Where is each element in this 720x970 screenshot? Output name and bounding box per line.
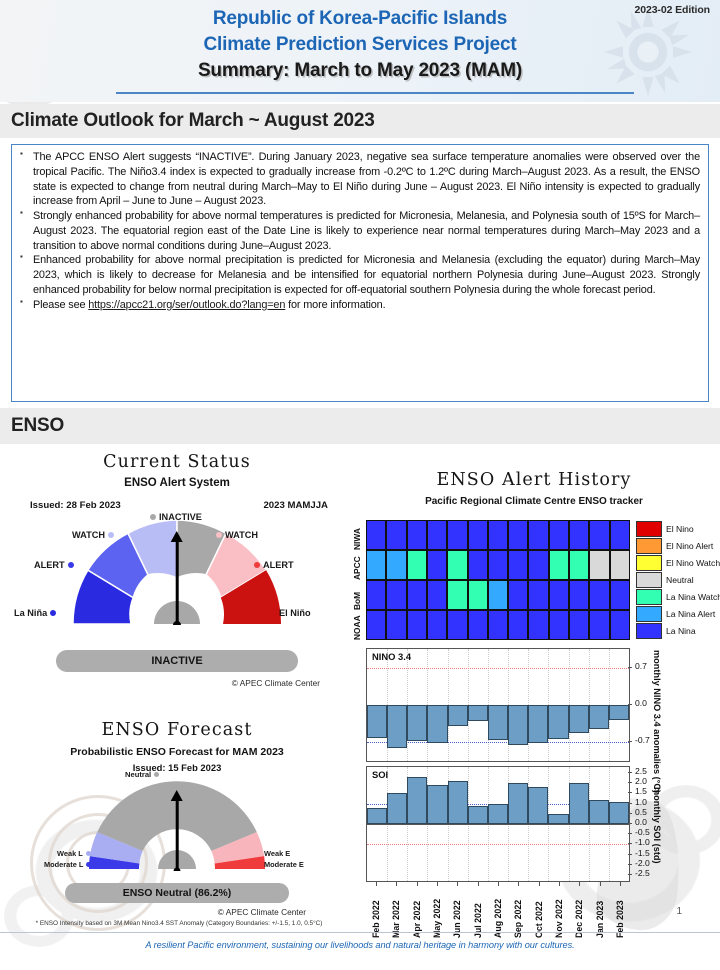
heatmap-cell (528, 610, 548, 640)
y-tick-label: 0.0 (635, 817, 647, 827)
legend-label: El Nino Alert (666, 541, 713, 551)
current-status-bar: INACTIVE (56, 650, 298, 672)
nino34-axis-title: monthly NINO 3.4 anomalies (°C) (652, 650, 662, 762)
alert-history-panel: ENSO Alert History Pacific Regional Clim… (352, 470, 716, 940)
outlook-bullet-list: The APCC ENSO Alert suggests “INACTIVE”.… (16, 150, 700, 312)
bar (548, 705, 568, 739)
enso-forecast-panel: ENSO Forecast Probabilistic ENSO Forecas… (12, 718, 342, 930)
current-status-subtitle: ENSO Alert System (12, 477, 342, 489)
legend-swatch (636, 538, 662, 554)
forecast-status-bar: ENSO Neutral (86.2%) (65, 883, 289, 903)
heatmap-cell (447, 520, 467, 550)
gauge-dot-la-nina (50, 610, 56, 616)
gauge-label-alert-right-text: ALERT (263, 560, 294, 570)
heatmap-cell (386, 610, 406, 640)
heatmap-cell (549, 580, 569, 610)
x-axis-month-label: Jun 2022 (452, 888, 462, 938)
y-tick-label: -2.0 (635, 858, 650, 868)
y-tick-mark (628, 667, 632, 668)
y-tick-mark (628, 741, 632, 742)
x-tick-mark (579, 882, 580, 886)
y-tick-mark (628, 782, 632, 783)
heatmap-cell (569, 550, 589, 580)
bullet-item-enso: The APCC ENSO Alert suggests “INACTIVE”.… (16, 150, 700, 209)
bullet-item-precipitation: Enhanced probability for above normal pr… (16, 253, 700, 297)
heatmap-cell (488, 610, 508, 640)
heatmap-row-label-apcc: APCC (352, 552, 362, 580)
heatmap-row-label-noaa: NOAA (352, 612, 362, 640)
heatmap-cell (589, 610, 609, 640)
y-tick-label: 2.0 (635, 776, 647, 786)
bar (427, 705, 447, 743)
gauge-dot-inactive (150, 514, 156, 520)
heatmap-cell (386, 580, 406, 610)
footer-tagline: A resilient Pacific environment, sustain… (0, 940, 720, 950)
x-axis-month-label: Jan 2023 (595, 888, 605, 938)
y-tick-mark (628, 704, 632, 705)
heatmap-cell (407, 580, 427, 610)
heatmap-cell (488, 520, 508, 550)
heatmap-cell (468, 550, 488, 580)
bar (427, 785, 447, 824)
heatmap-cell (569, 580, 589, 610)
forecast-needle-hub (174, 868, 181, 872)
link-suffix: for more information. (285, 299, 385, 311)
x-tick-mark (376, 882, 377, 886)
forecast-label-moderate-e: Moderate E (256, 860, 304, 869)
bar (528, 787, 548, 824)
bar (508, 783, 528, 824)
x-axis-month-label: Mar 2022 (391, 888, 401, 938)
heatmap-cell (610, 610, 630, 640)
heatmap-cell (549, 610, 569, 640)
heatmap-cell (427, 610, 447, 640)
alert-history-title: ENSO Alert History (352, 470, 716, 490)
heatmap-cell (610, 580, 630, 610)
gauge-label-alert-left-text: ALERT (34, 560, 65, 570)
legend-swatch (636, 606, 662, 622)
y-tick-label: -1.5 (635, 848, 650, 858)
section-header-outlook: Climate Outlook for March ~ August 2023 (0, 104, 720, 138)
bar (589, 705, 609, 729)
current-status-panel: Current Status ENSO Alert System Issued:… (12, 450, 342, 702)
x-axis-month-label: Apr 2022 (412, 888, 422, 938)
legend-label: El Nino (666, 524, 694, 534)
enso-forecast-title: ENSO Forecast (12, 720, 342, 740)
heatmap-cell (549, 520, 569, 550)
forecast-gauge (84, 776, 270, 871)
heatmap-cell (589, 580, 609, 610)
legend-swatch (636, 572, 662, 588)
report-page: 2023-02 Edition Republic of Korea-Pacifi… (0, 0, 720, 960)
y-tick-mark (628, 813, 632, 814)
heatmap-cell (447, 610, 467, 640)
gauge-label-inactive: INACTIVE (150, 512, 202, 522)
x-tick-mark (539, 882, 540, 886)
footer-divider (0, 932, 720, 933)
gauge-label-el-nino: El Niño (270, 608, 311, 618)
heatmap-cell (366, 550, 386, 580)
heatmap-cell (427, 520, 447, 550)
forecast-dot-weak-e (256, 851, 261, 856)
gauge-label-inactive-text: INACTIVE (159, 512, 202, 522)
forecast-needle (176, 797, 179, 869)
forecast-credit: © APEC Climate Center (218, 907, 306, 917)
heatmap-cell (610, 520, 630, 550)
heatmap-cell (589, 550, 609, 580)
enso-forecast-subtitle: Probabilistic ENSO Forecast for MAM 2023 (12, 746, 342, 758)
y-tick-label: 1.5 (635, 786, 647, 796)
heatmap-cell (508, 520, 528, 550)
heatmap-cell (366, 610, 386, 640)
forecast-label-weak-l: Weak L (57, 849, 91, 858)
soi-axis-title: monthly SOI (std) (652, 770, 662, 880)
heatmap-cell (508, 610, 528, 640)
gauge-dot-alert-right (254, 562, 260, 568)
enso-tracker-heatmap (366, 520, 630, 640)
legend-label: La Nina (666, 626, 696, 636)
gauge-label-la-nina-text: La Niña (14, 608, 47, 618)
bar (448, 705, 468, 726)
x-tick-mark (478, 882, 479, 886)
bar (468, 705, 488, 721)
heatmap-cell (366, 580, 386, 610)
x-tick-mark (396, 882, 397, 886)
x-tick-mark (498, 882, 499, 886)
nino34-title: NINO 3.4 (372, 651, 411, 662)
current-status-season: 2023 MAMJJA (263, 500, 328, 511)
soi-subplot (366, 766, 630, 882)
y-tick-mark (628, 854, 632, 855)
y-tick-label: 1.0 (635, 797, 647, 807)
forecast-label-moderate-e-text: Moderate E (264, 860, 304, 869)
y-tick-mark (628, 772, 632, 773)
threshold-line (367, 844, 629, 845)
legend-swatch (636, 589, 662, 605)
header-summary-line: Summary: March to May 2023 (MAM) (0, 60, 720, 82)
link-prefix: Please see (33, 299, 88, 311)
bar (387, 793, 407, 824)
heatmap-cell (610, 550, 630, 580)
forecast-dot-moderate-l (86, 862, 91, 867)
y-tick-label: 0.5 (635, 807, 647, 817)
heatmap-cell (468, 610, 488, 640)
y-tick-mark (628, 803, 632, 804)
x-tick-mark (417, 882, 418, 886)
gauge-dot-alert-left (68, 562, 74, 568)
section-header-enso: ENSO (0, 408, 720, 444)
heatmap-cell (447, 580, 467, 610)
bar (569, 783, 589, 824)
alert-gauge-wrap: INACTIVE WATCH WATCH ALERT ALERT La Niña… (12, 516, 342, 644)
heatmap-cell (549, 550, 569, 580)
gauge-label-watch-left-text: WATCH (72, 530, 105, 540)
bar (548, 814, 568, 824)
bar (488, 705, 508, 740)
alert-history-subtitle: Pacific Regional Climate Centre ENSO tra… (352, 496, 716, 507)
bar (407, 705, 427, 741)
forecast-gauge-wrap: Neutral Weak L Moderate (12, 776, 342, 884)
y-tick-label: -2.5 (635, 868, 650, 878)
current-status-credit: © APEC Climate Center (232, 678, 320, 688)
forecast-label-weak-e: Weak E (256, 849, 290, 858)
current-status-meta: Issued: 28 Feb 2023 2023 MAMJJA (30, 500, 328, 511)
heatmap-row-label-bom: BoM (352, 582, 362, 610)
bar (569, 705, 589, 733)
x-tick-mark (600, 882, 601, 886)
heatmap-cell (468, 520, 488, 550)
heatmap-cell (589, 520, 609, 550)
section-title-outlook: Climate Outlook for March ~ August 2023 (0, 110, 375, 132)
forecast-label-moderate-l-text: Moderate L (44, 860, 83, 869)
gauge-label-watch-right: WATCH (216, 530, 258, 540)
page-number: 1 (676, 906, 682, 917)
y-tick-mark (628, 792, 632, 793)
forecast-label-weak-l-text: Weak L (57, 849, 83, 858)
forecast-dot-weak-l (86, 851, 91, 856)
x-axis-month-label: May 2022 (432, 888, 442, 938)
x-tick-mark (559, 882, 560, 886)
zero-line (367, 824, 629, 825)
y-tick-mark (628, 874, 632, 875)
header-title-line2: Climate Prediction Services Project (0, 35, 720, 55)
bar (407, 777, 427, 824)
heatmap-cell (427, 580, 447, 610)
outlook-url-link[interactable]: https://apcc21.org/ser/outlook.do?lang=e… (88, 299, 285, 311)
y-tick-label: 0.0 (635, 698, 647, 708)
section-title-enso: ENSO (0, 415, 64, 437)
bar (609, 705, 629, 720)
bullet-item-link: Please see https://apcc21.org/ser/outloo… (16, 298, 700, 313)
gauge-label-la-nina: La Niña (14, 608, 56, 618)
gauge-label-watch-right-text: WATCH (225, 530, 258, 540)
bar (609, 802, 629, 824)
heatmap-cell (569, 520, 589, 550)
legend-swatch (636, 521, 662, 537)
heatmap-row-label-niwa: NIWA (352, 522, 362, 550)
x-tick-mark (620, 882, 621, 886)
bar (367, 705, 387, 738)
y-tick-mark (628, 833, 632, 834)
bar (508, 705, 528, 745)
heatmap-cell (407, 550, 427, 580)
y-tick-label: -0.5 (635, 827, 650, 837)
forecast-dot-moderate-e (256, 862, 261, 867)
gauge-dot-watch-left (108, 532, 114, 538)
heatmap-cell (528, 550, 548, 580)
x-axis-month-label: Oct 2022 (534, 888, 544, 938)
x-axis-month-label: Nov 2022 (554, 888, 564, 938)
forecast-label-weak-e-text: Weak E (264, 849, 290, 858)
gauge-needle-hub (173, 621, 181, 625)
bar (589, 800, 609, 824)
heatmap-cell (508, 580, 528, 610)
current-status-issued: Issued: 28 Feb 2023 (30, 500, 121, 511)
bullet-item-temperature: Strongly enhanced probability for above … (16, 209, 700, 253)
heatmap-cell (386, 550, 406, 580)
soi-title: SOI (372, 769, 388, 780)
gauge-label-alert-right: ALERT (254, 560, 294, 570)
heatmap-cell (569, 610, 589, 640)
bar (448, 781, 468, 824)
heatmap-cell (427, 550, 447, 580)
x-tick-mark (457, 882, 458, 886)
heatmap-cell (528, 580, 548, 610)
enso-forecast-issued: Issued: 15 Feb 2023 (12, 762, 342, 773)
y-tick-label: -0.7 (635, 735, 650, 745)
bar (367, 808, 387, 824)
gauge-dot-el-nino (270, 610, 276, 616)
y-tick-mark (628, 843, 632, 844)
gauge-label-alert-left: ALERT (34, 560, 74, 570)
nino34-subplot (366, 648, 630, 762)
outlook-text-box: The APCC ENSO Alert suggests “INACTIVE”.… (11, 144, 709, 402)
x-tick-mark (437, 882, 438, 886)
x-axis-month-label: Feb 2023 (615, 888, 625, 938)
heatmap-cell (468, 580, 488, 610)
bar (528, 705, 548, 743)
heatmap-cell (386, 520, 406, 550)
gauge-needle (176, 538, 179, 622)
threshold-line (367, 668, 629, 669)
gauge-label-watch-left: WATCH (72, 530, 114, 540)
forecast-label-moderate-l: Moderate L (44, 860, 91, 869)
heatmap-cell (407, 610, 427, 640)
x-axis-month-label: Sep 2022 (513, 888, 523, 938)
y-tick-mark (628, 864, 632, 865)
legend-label: La Nina Watch (666, 592, 720, 602)
legend-swatch (636, 555, 662, 571)
y-tick-label: 0.7 (635, 661, 647, 671)
heatmap-cell (508, 550, 528, 580)
heatmap-cell (407, 520, 427, 550)
gauge-dot-watch-right (216, 532, 222, 538)
legend-swatch (636, 623, 662, 639)
header-divider (116, 92, 634, 94)
bar (387, 705, 407, 748)
gauge-label-el-nino-text: El Niño (279, 608, 311, 618)
legend-label: El Nino Watch (666, 558, 720, 568)
page-header: 2023-02 Edition Republic of Korea-Pacifi… (0, 0, 720, 102)
x-tick-mark (518, 882, 519, 886)
y-tick-mark (628, 823, 632, 824)
heatmap-cell (447, 550, 467, 580)
legend-label: Neutral (666, 575, 694, 585)
header-title-line1: Republic of Korea-Pacific Islands (0, 9, 720, 29)
x-axis-month-label: Feb 2022 (371, 888, 381, 938)
current-status-title: Current Status (12, 452, 342, 472)
heatmap-cell (528, 520, 548, 550)
y-tick-label: 2.5 (635, 766, 647, 776)
bar (488, 804, 508, 824)
legend-label: La Nina Alert (666, 609, 715, 619)
x-axis-month-label: Jul 2022 (473, 888, 483, 938)
heatmap-cell (488, 550, 508, 580)
heatmap-cell (488, 580, 508, 610)
bar (468, 806, 488, 824)
y-tick-label: -1.0 (635, 837, 650, 847)
forecast-footnote: * ENSO Intensity based on 3M Mean Nino3.… (18, 920, 340, 927)
heatmap-cell (366, 520, 386, 550)
x-axis-month-label: Dec 2022 (574, 888, 584, 938)
x-axis-month-label: Aug 2022 (493, 888, 503, 938)
